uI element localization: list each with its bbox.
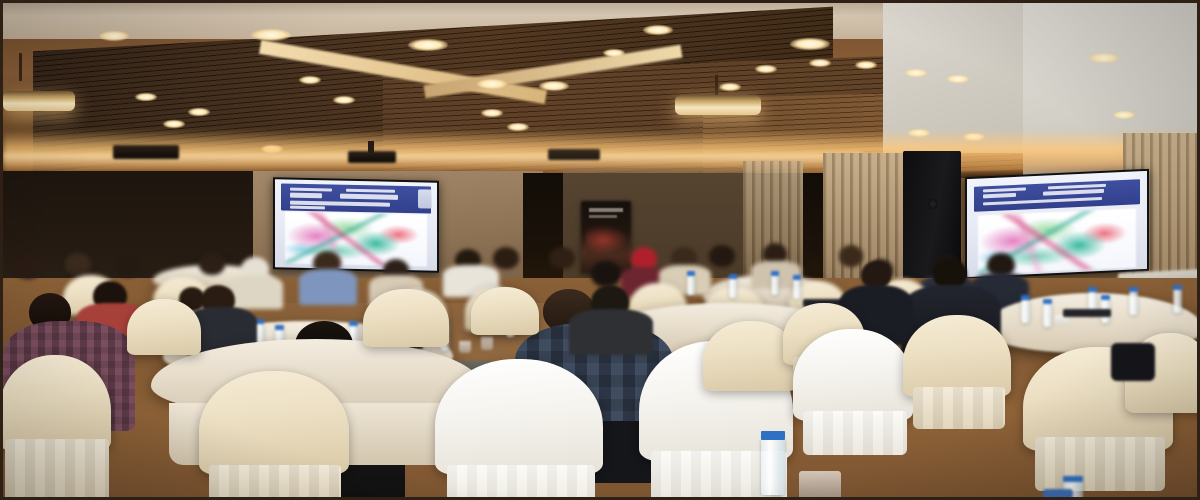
banquet-chair-skirt [1035,437,1165,491]
banquet-chair-skirt [5,439,109,500]
seated-attendee-dark-shirt [569,309,653,355]
recessed-downlight [603,49,625,57]
recessed-downlight [719,83,741,91]
banquet-chair-skirt [803,411,907,455]
banquet-chair [0,355,111,451]
bottle-cap [771,271,779,276]
bottle-cap [1173,285,1182,290]
water-bottle [761,439,785,495]
recessed-downlight [163,120,185,128]
bottle-cap [729,274,737,279]
banner-image [586,225,628,255]
conference-hall-photo [0,0,1200,500]
drinking-glass [481,337,493,350]
recessed-downlight [1089,53,1119,63]
water-bottle [1043,303,1052,327]
ceiling-projector-left [113,145,179,159]
water-bottle [771,275,779,295]
pendant-rod [19,53,22,81]
banner-text-line [589,208,623,212]
recessed-downlight [188,108,210,116]
recessed-downlight [135,93,157,101]
bottle-cap [1088,287,1097,292]
seated-attendee [65,253,91,275]
seated-attendee-shirt [299,269,357,305]
recessed-downlight [251,29,291,41]
recessed-downlight [299,76,321,84]
banquet-chair-skirt [447,465,595,500]
organisation-logo [418,189,433,209]
ceiling-projector-secondary [548,149,600,160]
bottle-cap [1101,295,1110,300]
bottle-cap [1129,287,1138,292]
water-bottle [793,279,801,299]
bottle-cap [1021,295,1030,300]
bottle-cap [793,275,801,280]
seated-attendee-robe [231,275,283,309]
seated-attendee [709,245,735,267]
handbag [1111,343,1155,381]
recessed-downlight [507,123,529,131]
recessed-downlight [809,59,831,67]
banquet-chair [793,329,913,421]
recessed-downlight [643,25,673,35]
bottle-cap [687,271,695,276]
floor-object [1043,489,1073,499]
banner-text-line [589,215,617,218]
recessed-downlight [947,75,969,83]
banquet-chair [471,287,539,335]
recessed-downlight [905,69,927,77]
water-bottle [729,278,737,298]
water-bottle [1021,299,1030,323]
laptop-on-table [1063,309,1111,317]
drum-pendant-lamp [3,91,75,111]
bottle-cap [349,321,358,326]
bottle-cap [1063,476,1083,482]
seated-attendee [115,255,141,277]
seated-attendee [493,247,519,269]
abstract-colour-graphic [285,211,428,267]
recessed-downlight [477,79,507,89]
drinking-glass [459,341,471,353]
drinking-glass [799,471,841,500]
banquet-chair-skirt [913,387,1005,429]
ceiling-projector [348,151,396,163]
water-bottle [687,275,695,295]
water-bottle [1129,291,1138,315]
recessed-downlight [333,96,355,104]
banquet-chair [199,371,349,475]
seated-attendee [591,261,621,287]
recessed-downlight [855,61,877,69]
drum-pendant-lamp [675,95,761,115]
seated-attendee [839,245,863,267]
seated-attendee [549,247,575,269]
water-bottle [1173,289,1182,313]
bottle-cap [275,325,284,330]
seated-attendee [15,255,41,279]
recessed-downlight [99,31,129,41]
banquet-chair-skirt [209,465,341,500]
main-projection-screen [273,177,439,272]
banquet-chair [127,299,201,355]
banquet-chair [363,289,449,347]
bottle-cap [1043,299,1052,304]
banquet-chair [903,315,1011,397]
slide-title-line [290,193,322,198]
loudspeaker-driver [928,199,938,209]
recessed-downlight [790,38,830,50]
recessed-downlight [481,109,503,117]
bottle-cap [761,431,785,440]
seated-attendee [199,253,225,275]
recessed-downlight [755,65,777,73]
recessed-downlight [1113,111,1135,119]
recessed-downlight [408,39,448,51]
recessed-downlight [539,81,569,91]
